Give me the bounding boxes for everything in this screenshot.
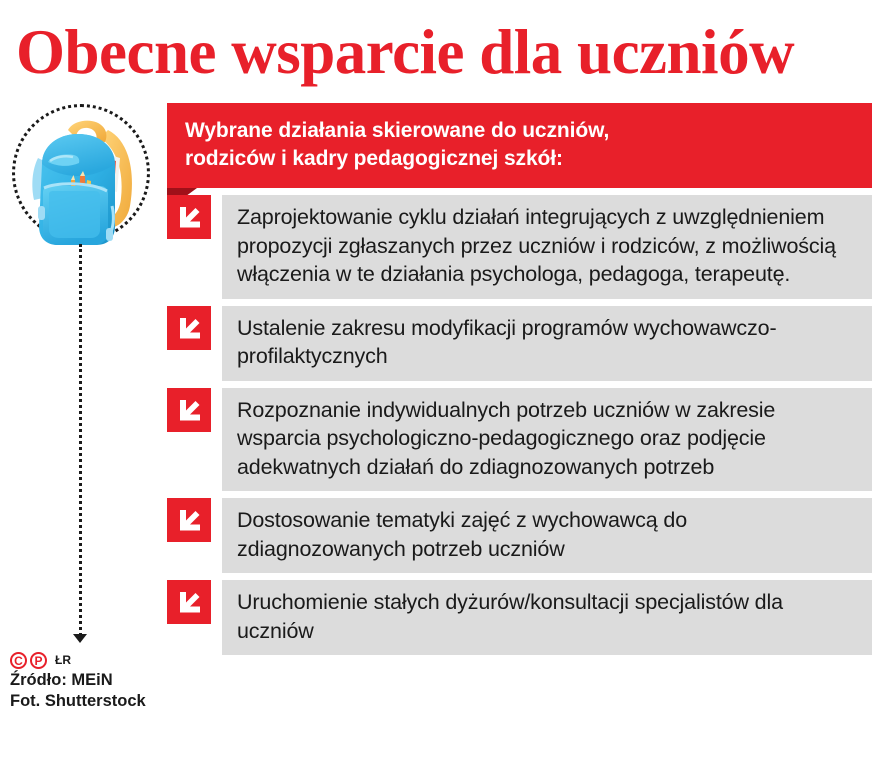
- dotted-connector-line: [79, 244, 82, 636]
- list-item: Ustalenie zakresu modyfikacji programów …: [167, 306, 872, 381]
- list-item: Zaprojektowanie cyklu działań integrując…: [167, 195, 872, 299]
- list-item-paragraph: Dostosowanie tematyki zajęć z wychowawcą…: [237, 506, 858, 563]
- credits-block: C P ŁR Źródło: MEiN Fot. Shutterstock: [10, 650, 190, 712]
- list-item-paragraph: Rozpoznanie indywidualnych potrzeb uczni…: [237, 396, 858, 482]
- list-item-text: Ustalenie zakresu modyfikacji programów …: [222, 306, 872, 381]
- illustration-column: [0, 96, 167, 656]
- backpack-illustration: [16, 114, 148, 256]
- list-item-text: Zaprojektowanie cyklu działań integrując…: [222, 195, 872, 299]
- copyright-icon: C: [10, 652, 27, 669]
- banner-line-2: rodziców i kadry pedagogicznej szkół:: [185, 145, 854, 173]
- list-item: Uruchomienie stałych dyżurów/konsultacji…: [167, 580, 872, 655]
- banner-line-1: Wybrane działania skierowane do uczniów,: [185, 117, 854, 145]
- phonogram-icon: P: [30, 652, 47, 669]
- arrow-down-right-icon: [167, 306, 211, 350]
- arrow-down-right-icon: [167, 388, 211, 432]
- content-column: Wybrane działania skierowane do uczniów,…: [167, 103, 872, 662]
- arrow-down-right-icon: [167, 498, 211, 542]
- action-list: Zaprojektowanie cyklu działań integrując…: [167, 195, 872, 655]
- dotted-connector-arrowhead: [73, 634, 87, 643]
- list-item: Dostosowanie tematyki zajęć z wychowawcą…: [167, 498, 872, 573]
- source-line: Źródło: MEiN: [10, 670, 190, 691]
- list-item-text: Uruchomienie stałych dyżurów/konsultacji…: [222, 580, 872, 655]
- list-item-paragraph: Uruchomienie stałych dyżurów/konsultacji…: [237, 588, 858, 645]
- list-item-paragraph: Zaprojektowanie cyklu działań integrując…: [237, 203, 858, 289]
- credit-marks: C P ŁR: [10, 650, 190, 670]
- list-item: Rozpoznanie indywidualnych potrzeb uczni…: [167, 388, 872, 492]
- arrow-down-right-icon: [167, 195, 211, 239]
- banner-header: Wybrane działania skierowane do uczniów,…: [167, 103, 872, 188]
- list-item-text: Rozpoznanie indywidualnych potrzeb uczni…: [222, 388, 872, 492]
- list-item-paragraph: Ustalenie zakresu modyfikacji programów …: [237, 314, 858, 371]
- list-item-text: Dostosowanie tematyki zajęć z wychowawcą…: [222, 498, 872, 573]
- author-initials: ŁR: [55, 653, 71, 667]
- photo-credit-line: Fot. Shutterstock: [10, 691, 190, 712]
- arrow-down-right-icon: [167, 580, 211, 624]
- page-title: Obecne wsparcie dla uczniów: [16, 17, 866, 87]
